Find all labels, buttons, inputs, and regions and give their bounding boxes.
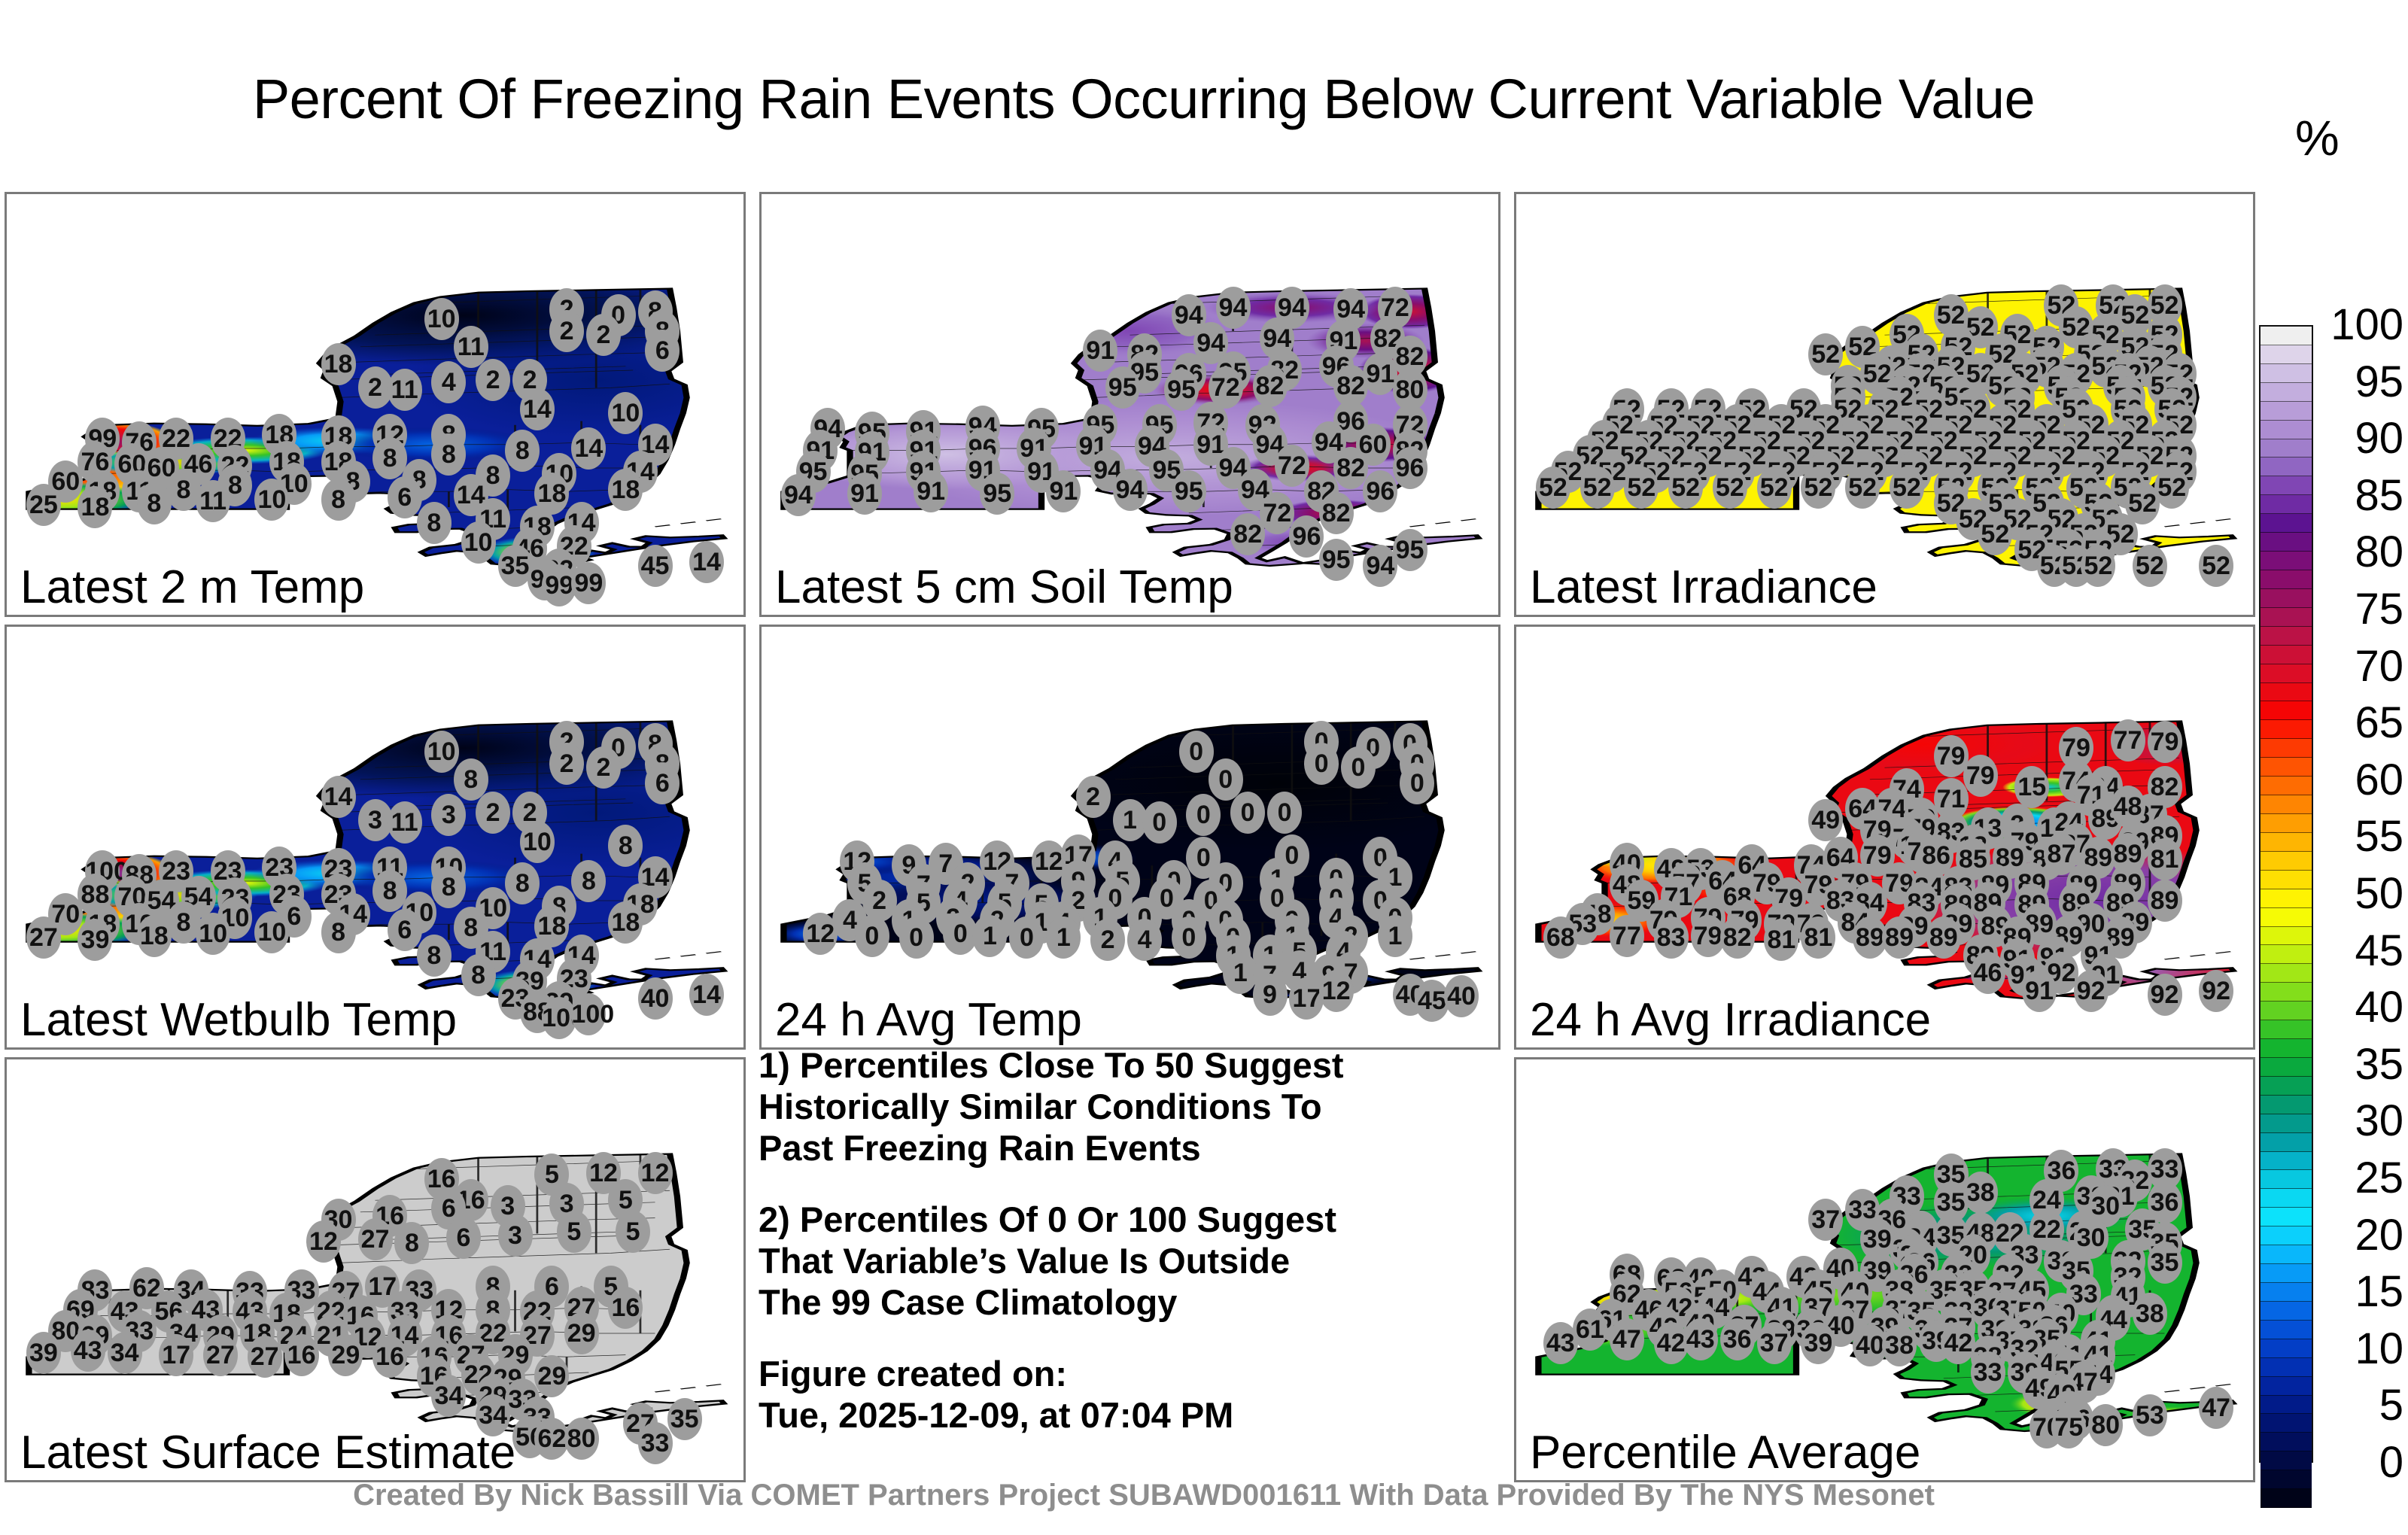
station-marker: 18 [137, 915, 172, 957]
station-marker: 61 [1573, 1309, 1607, 1351]
colorbar-tick-label: 95 [2355, 360, 2403, 404]
station-marker: 39 [1801, 1322, 1835, 1364]
colorbar-tick-label: 90 [2355, 417, 2403, 460]
colorbar-cell [2261, 701, 2312, 720]
station-marker: 14 [571, 427, 606, 470]
station-marker: 0 [1009, 916, 1044, 959]
panel-label-24h-avg-irradiance: 24 h Avg Irradiance [1530, 996, 1931, 1044]
colorbar-cell [2261, 570, 2312, 589]
station-marker: 11 [388, 369, 422, 411]
colorbar-tick-label: 40 [2355, 986, 2403, 1029]
colorbar-cell [2261, 345, 2312, 364]
colorbar-cell [2261, 758, 2312, 777]
station-marker: 34 [108, 1332, 142, 1374]
station-marker: 81 [1801, 916, 1835, 959]
colorbar-cell [2261, 1302, 2312, 1321]
colorbar-cell [2261, 1133, 2312, 1152]
colorbar-cell [2261, 1189, 2312, 1208]
station-marker: 80 [2088, 1404, 2123, 1446]
station-marker: 96 [1393, 447, 1427, 489]
station-marker: 9 [1253, 974, 1288, 1016]
station-marker: 91 [1046, 470, 1081, 512]
colorbar-tick-label: 60 [2355, 758, 2403, 802]
station-marker: 0 [1267, 792, 1302, 834]
station-marker: 0 [1341, 746, 1376, 789]
station-marker: 8 [417, 502, 451, 544]
station-marker: 95 [1172, 470, 1206, 512]
colorbar-tick-label: 35 [2355, 1043, 2403, 1087]
colorbar-cell [2261, 720, 2312, 739]
station-marker: 52 [1890, 467, 1924, 509]
panel-latest-surface-estimate[interactable]: 1616512123016633512278635583623433332717… [5, 1057, 746, 1482]
panel-24h-avg-temp[interactable]: 0000021000000001297121217400057279500101… [759, 625, 1500, 1050]
note-line-4: 2) Percentiles Of 0 Or 100 Suggest [759, 1199, 1481, 1240]
station-marker: 8 [137, 482, 172, 524]
station-marker: 91 [2022, 970, 2057, 1012]
station-marker: 29 [534, 1355, 569, 1397]
colorbar-cell [2261, 421, 2312, 439]
panel-latest-5cm-soil-temp[interactable]: 9494949472918294949182829596958296919595… [759, 192, 1500, 617]
station-marker: 43 [1543, 1322, 1578, 1364]
station-marker: 80 [564, 1418, 599, 1460]
station-marker: 52 [1536, 467, 1570, 509]
station-marker: 15 [2014, 766, 2049, 808]
station-marker: 1 [972, 915, 1007, 957]
station-marker: 39 [26, 1332, 61, 1374]
colorbar-cell [2261, 1377, 2312, 1396]
station-marker: 82 [1333, 447, 1368, 489]
colorbar-tick-label: 65 [2355, 701, 2403, 745]
colorbar-cell [2261, 495, 2312, 514]
station-marker: 37 [1808, 1199, 1843, 1241]
colorbar-cell [2261, 1451, 2312, 1470]
station-marker: 27 [26, 916, 61, 959]
colorbar-cell [2261, 1020, 2312, 1039]
station-marker: 72 [1260, 492, 1294, 534]
station-marker: 39 [78, 919, 112, 961]
station-marker: 14 [520, 388, 555, 430]
colorbar-gradient [2259, 325, 2313, 1463]
station-marker: 5 [557, 1211, 591, 1253]
panel-label-latest-2m-temp: Latest 2 m Temp [20, 564, 364, 612]
note-line-5: That Variable’s Value Is Outside [759, 1240, 1481, 1281]
colorbar-cell [2261, 552, 2312, 570]
station-marker: 92 [2074, 970, 2109, 1012]
station-marker: 8 [394, 1222, 429, 1264]
station-marker: 10 [520, 821, 555, 863]
station-marker: 10 [424, 298, 459, 340]
station-marker: 40 [1444, 975, 1479, 1017]
station-marker: 8 [431, 866, 466, 908]
station-marker: 96 [1289, 515, 1324, 558]
station-marker: 52 [1580, 467, 1615, 509]
station-marker: 14 [689, 541, 724, 583]
station-marker: 35 [667, 1398, 702, 1440]
colorbar-cell [2261, 1414, 2312, 1433]
colorbar-cell [2261, 945, 2312, 964]
station-marker: 14 [321, 776, 356, 818]
station-marker: 81 [2148, 838, 2182, 880]
station-marker: 43 [71, 1330, 105, 1372]
station-marker: 79 [1963, 755, 1998, 797]
created-on-value: Tue, 2025-12-09, at 07:04 PM [759, 1394, 1481, 1436]
panel-label-24h-avg-temp: 24 h Avg Temp [775, 996, 1082, 1044]
station-marker: 12 [803, 913, 838, 955]
station-marker: 47 [1610, 1318, 1644, 1360]
station-marker: 52 [1668, 467, 1703, 509]
station-marker: 72 [1275, 445, 1309, 487]
colorbar-cell [2261, 646, 2312, 664]
station-marker: 2 [586, 746, 621, 789]
station-marker: 8 [505, 862, 540, 904]
station-marker: 2 [476, 359, 510, 401]
station-marker: 10 [424, 731, 459, 773]
station-marker: 79 [2148, 721, 2182, 763]
figure-title: Percent Of Freezing Rain Events Occurrin… [0, 69, 2288, 129]
colorbar-cell [2261, 1096, 2312, 1114]
colorbar-cell [2261, 1002, 2312, 1020]
station-marker: 1 [1378, 915, 1412, 957]
station-marker: 49 [1808, 799, 1843, 841]
colorbar-cell [2261, 1264, 2312, 1283]
station-marker: 8 [461, 954, 496, 996]
station-marker: 43 [1683, 1318, 1718, 1360]
colorbar-cell [2261, 457, 2312, 476]
station-marker: 10 [461, 521, 496, 564]
station-marker: 18 [78, 486, 112, 528]
station-marker: 38 [1882, 1324, 1917, 1366]
station-marker: 95 [980, 473, 1014, 515]
colorbar-tick-label: 55 [2355, 815, 2403, 859]
station-marker: 53 [2133, 1394, 2167, 1436]
colorbar-tick-label: 100 [2330, 303, 2403, 347]
station-marker: 8 [321, 911, 356, 953]
notes-block: 1) Percentiles Close To 50 Suggest Histo… [759, 1044, 1481, 1466]
colorbar-cell [2261, 476, 2312, 495]
note-gap-1 [759, 1169, 1481, 1199]
note-gap-2 [759, 1323, 1481, 1353]
panel-latest-2m-temp[interactable]: 1011208182228114226997622221818128141076… [5, 192, 746, 617]
colorbar-tick-label: 25 [2355, 1157, 2403, 1200]
station-marker: 2 [1090, 919, 1125, 961]
station-marker: 89 [2148, 880, 2182, 922]
station-marker: 77 [2111, 719, 2145, 761]
station-marker: 6 [446, 1217, 481, 1259]
station-marker: 0 [1172, 916, 1206, 959]
created-on-label: Figure created on: [759, 1353, 1481, 1394]
station-marker: 38 [2133, 1293, 2167, 1335]
station-marker: 6 [388, 476, 422, 518]
colorbar-cell [2261, 439, 2312, 458]
station-marker: 0 [1400, 762, 1434, 804]
figure-footer: Created By Nick Bassill Via COMET Partne… [0, 1479, 2288, 1512]
station-marker: 34 [431, 1375, 466, 1417]
colorbar-cell [2261, 1283, 2312, 1302]
colorbar-tick-label: 85 [2355, 474, 2403, 518]
colorbar-unit-label: % [2295, 109, 2340, 166]
station-marker: 91 [847, 473, 882, 515]
station-marker: 94 [1363, 545, 1397, 587]
station-marker: 4 [431, 361, 466, 403]
station-marker: 95 [1319, 539, 1354, 581]
station-marker: 5 [616, 1211, 650, 1253]
colorbar-cell [2261, 1152, 2312, 1171]
station-marker: 82 [1253, 365, 1288, 407]
station-marker: 94 [1216, 287, 1251, 329]
station-marker: 91 [1083, 330, 1117, 372]
station-marker: 2 [1076, 776, 1111, 818]
note-line-2: Historically Similar Conditions To [759, 1086, 1481, 1127]
colorbar-cell [2261, 1208, 2312, 1226]
station-marker: 82 [1720, 916, 1755, 959]
colorbar-cell [2261, 608, 2312, 627]
station-marker: 8 [372, 870, 407, 912]
station-marker: 8 [372, 437, 407, 479]
colorbar-tick-label: 10 [2355, 1327, 2403, 1371]
colorbar-ticks: 1009590858075706560555045403530252015105… [2319, 299, 2408, 1488]
colorbar-cell [2261, 871, 2312, 889]
station-marker: 52 [1624, 467, 1659, 509]
station-marker: 52 [2081, 545, 2115, 587]
station-marker: 14 [689, 974, 724, 1016]
station-marker: 3 [498, 1214, 533, 1257]
colorbar-cell [2261, 1058, 2312, 1077]
colorbar-cell [2261, 514, 2312, 533]
figure-canvas: Percent Of Freezing Rain Events Occurrin… [0, 0, 2408, 1535]
station-marker: 89 [1926, 916, 1961, 959]
station-marker: 95 [1393, 529, 1427, 571]
colorbar-cell [2261, 1358, 2312, 1377]
station-marker: 8 [431, 433, 466, 476]
panel-latest-wetbulb-temp[interactable]: 1082081432281132261008823232323111010888… [5, 625, 746, 1050]
panel-label-latest-surface-estimate: Latest Surface Estimate [20, 1429, 515, 1477]
station-marker: 11 [196, 480, 230, 522]
station-marker: 0 [1230, 792, 1265, 834]
station-marker: 16 [372, 1336, 407, 1378]
station-marker: 36 [1720, 1318, 1755, 1360]
station-marker: 8 [417, 935, 451, 977]
station-marker: 17 [159, 1334, 193, 1376]
colorbar-cell [2261, 589, 2312, 608]
colorbar-cell [2261, 1339, 2312, 1358]
panel-label-latest-wetbulb-temp: Latest Wetbulb Temp [20, 996, 457, 1044]
colorbar-cell [2261, 664, 2312, 683]
colorbar-cell [2261, 852, 2312, 871]
station-marker: 2 [586, 314, 621, 356]
colorbar-cell [2261, 739, 2312, 758]
station-marker: 0 [855, 915, 889, 957]
station-marker: 91 [914, 470, 948, 512]
station-marker: 10 [254, 479, 289, 521]
colorbar-tick-label: 0 [2379, 1441, 2403, 1485]
station-marker: 95 [1164, 369, 1199, 411]
station-marker: 3 [431, 794, 466, 836]
station-marker: 52 [1801, 467, 1835, 509]
colorbar-cell [2261, 327, 2312, 345]
colorbar-cell [2261, 1114, 2312, 1133]
colorbar-tick-label: 75 [2355, 588, 2403, 631]
station-marker: 18 [608, 469, 643, 511]
station-marker: 16 [284, 1334, 319, 1376]
colorbar-tick-label: 5 [2379, 1384, 2403, 1427]
station-marker: 33 [1971, 1351, 2005, 1394]
station-marker: 94 [1113, 469, 1148, 511]
colorbar-cell [2261, 795, 2312, 814]
station-marker: 2 [549, 743, 584, 785]
colorbar-tick-label: 70 [2355, 645, 2403, 688]
station-marker: 99 [571, 562, 606, 604]
colorbar-cell [2261, 983, 2312, 1002]
station-marker: 52 [1978, 513, 2012, 555]
station-marker: 11 [388, 801, 422, 843]
colorbar-cell [2261, 927, 2312, 946]
station-marker: 52 [2199, 545, 2233, 587]
station-marker: 52 [2133, 545, 2167, 587]
station-marker: 82 [1319, 492, 1354, 534]
station-marker: 8 [571, 860, 606, 902]
station-marker: 45 [638, 545, 673, 587]
colorbar-cell [2261, 964, 2312, 983]
station-marker: 16 [608, 1287, 643, 1329]
station-marker: 100 [571, 993, 606, 1035]
station-marker: 95 [1105, 366, 1140, 409]
station-marker: 18 [321, 343, 356, 385]
station-marker: 96 [1363, 470, 1397, 512]
colorbar-cell [2261, 1321, 2312, 1339]
colorbar-cell [2261, 1077, 2312, 1096]
colorbar-cell [2261, 1039, 2312, 1058]
colorbar-tick-label: 80 [2355, 530, 2403, 574]
station-marker: 46 [1971, 952, 2005, 994]
station-marker: 6 [388, 909, 422, 951]
colorbar-cell [2261, 814, 2312, 833]
station-marker: 18 [608, 901, 643, 944]
panel-24h-avg-irradiance[interactable]: 7979797779746449711574647182747979831321… [1514, 625, 2255, 1050]
station-marker: 27 [248, 1336, 282, 1378]
colorbar-tick-label: 50 [2355, 872, 2403, 916]
station-marker: 10 [196, 913, 230, 955]
station-marker: 10 [608, 392, 643, 434]
station-marker: 52 [1757, 467, 1792, 509]
station-marker: 12 [1319, 970, 1354, 1012]
panel-latest-irradiance[interactable]: 5252525252525252525252525252525252525252… [1514, 192, 2255, 617]
colorbar-cell [2261, 833, 2312, 852]
colorbar-cell [2261, 889, 2312, 908]
panel-label-latest-irradiance: Latest Irradiance [1530, 564, 1877, 612]
colorbar-cell [2261, 364, 2312, 383]
station-marker: 1 [1046, 916, 1081, 959]
station-marker: 35 [2148, 1242, 2182, 1284]
colorbar-cell [2261, 1226, 2312, 1245]
station-marker: 0 [1142, 801, 1177, 843]
station-marker: 6 [645, 762, 680, 804]
colorbar-tick-label: 20 [2355, 1214, 2403, 1257]
colorbar-cell [2261, 908, 2312, 927]
station-marker: 47 [2199, 1387, 2233, 1429]
colorbar-cell [2261, 1170, 2312, 1189]
station-marker: 52 [1845, 467, 1880, 509]
station-marker: 75 [2051, 1406, 2086, 1448]
colorbar-tick-label: 30 [2355, 1099, 2403, 1143]
panel-label-percentile-average: Percentile Average [1530, 1429, 1920, 1477]
station-marker: 12 [306, 1220, 341, 1263]
station-marker: 37 [1757, 1322, 1792, 1364]
station-marker: 27 [203, 1334, 238, 1376]
note-line-6: The 99 Case Climatology [759, 1281, 1481, 1323]
colorbar-cell [2261, 533, 2312, 552]
station-marker: 52 [1713, 467, 1747, 509]
station-marker: 8 [505, 430, 540, 472]
colorbar-cell [2261, 1433, 2312, 1451]
colorbar-cell [2261, 777, 2312, 795]
station-marker: 17 [1289, 977, 1324, 1020]
station-marker: 0 [1186, 794, 1221, 836]
station-marker: 25 [26, 484, 61, 526]
station-marker: 8 [321, 479, 356, 521]
station-marker: 68 [1543, 916, 1578, 959]
colorbar-cell [2261, 402, 2312, 421]
station-marker: 0 [899, 916, 934, 959]
station-marker: 12 [638, 1152, 673, 1194]
note-line-1: 1) Percentiles Close To 50 Suggest [759, 1044, 1481, 1086]
colorbar-cell [2261, 383, 2312, 402]
station-marker: 52 [2154, 467, 2189, 509]
station-marker: 0 [1179, 731, 1214, 773]
station-marker: 89 [1882, 916, 1917, 959]
station-marker: 29 [564, 1312, 599, 1354]
station-marker: 8 [608, 825, 643, 867]
station-marker: 94 [781, 474, 816, 516]
station-marker: 38 [1963, 1172, 1998, 1214]
station-marker: 77 [1610, 915, 1644, 957]
colorbar-tick-label: 15 [2355, 1270, 2403, 1314]
station-marker: 40 [638, 977, 673, 1020]
station-marker: 92 [2199, 970, 2233, 1012]
station-marker: 2 [476, 792, 510, 834]
panel-percentile-average[interactable]: 3538363333323333373524323130363641343548… [1514, 1057, 2255, 1482]
panel-label-latest-5cm-soil-temp: Latest 5 cm Soil Temp [775, 564, 1233, 612]
station-marker: 83 [1654, 916, 1689, 959]
station-marker: 27 [358, 1218, 393, 1260]
station-marker: 82 [1230, 513, 1265, 555]
note-line-3: Past Freezing Rain Events [759, 1127, 1481, 1169]
colorbar-cell [2261, 683, 2312, 702]
station-marker: 0 [1304, 743, 1339, 785]
colorbar-tick-label: 45 [2355, 929, 2403, 973]
station-marker: 92 [2148, 974, 2182, 1016]
colorbar-cell [2261, 1245, 2312, 1264]
station-marker: 10 [254, 911, 289, 953]
station-marker: 33 [638, 1422, 673, 1464]
station-marker: 29 [328, 1334, 363, 1376]
colorbar-cell [2261, 1396, 2312, 1415]
station-marker: 6 [645, 330, 680, 372]
station-marker: 81 [1764, 919, 1798, 961]
station-marker: 4 [1127, 919, 1162, 961]
station-marker: 2 [549, 310, 584, 352]
colorbar-cell [2261, 627, 2312, 646]
